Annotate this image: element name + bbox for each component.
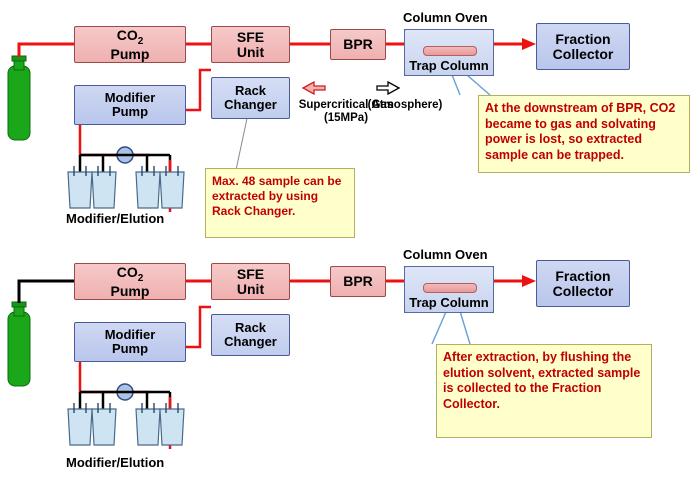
co2-pump-bottom-line2: Pump [111,284,150,299]
rack-changer-bottom[interactable]: Rack Changer [211,314,290,356]
rack-changer-top-line1: Rack [235,84,266,98]
modifier-pump-bottom-line1: Modifier [105,328,156,342]
trap-column-tube-top [423,46,477,56]
fraction-collector-top-line2: Collector [553,47,614,62]
rack-changer-bottom-line1: Rack [235,321,266,335]
modifier-elution-bottom-label: Modifier/Elution [66,455,164,470]
co2-cylinder-bottom [8,302,30,386]
column-oven-top-label: Column Oven [403,10,488,25]
co2-pump-bottom[interactable]: CO2 Pump [74,263,186,300]
fraction-collector-top[interactable]: Fraction Collector [536,23,630,70]
sfe-unit-bottom-line1: SFE [237,267,264,282]
bpr-bottom[interactable]: BPR [330,266,386,297]
rack-changer-note: Max. 48 sample can be extracted by using… [205,168,355,238]
co2-cylinder-top [8,56,30,140]
modifier-pump-bottom[interactable]: Modifier Pump [74,322,186,362]
column-oven-bottom-label: Column Oven [403,247,488,262]
sfe-unit-top[interactable]: SFE Unit [211,26,290,63]
modifier-elution-top-label: Modifier/Elution [66,211,164,226]
fraction-collector-bottom[interactable]: Fraction Collector [536,260,630,307]
rack-changer-top-line2: Changer [224,98,277,112]
supercritical-gas-line2: (15MPa) [291,112,401,125]
bpr-top[interactable]: BPR [330,29,386,60]
trap-column-top-label: Trap Column [409,58,488,75]
bpr-top-label: BPR [343,37,373,52]
flush-note: After extraction, by flushing the elutio… [436,344,652,438]
bpr-bottom-label: BPR [343,274,373,289]
trap-column-bottom-label: Trap Column [409,295,488,312]
sfe-unit-top-line1: SFE [237,30,264,45]
rack-changer-top[interactable]: Rack Changer [211,77,290,119]
sfe-unit-bottom[interactable]: SFE Unit [211,263,290,300]
co2-pump-bottom-line1: CO2 [117,265,144,284]
atmosphere-label: (Atmosphere) [360,99,450,112]
fraction-collector-top-line1: Fraction [555,32,610,47]
co2-subscript: 2 [138,35,144,46]
modifier-pump-bottom-line2: Pump [112,342,148,356]
modifier-pump-top-line1: Modifier [105,91,156,105]
co2-pump-top-line1: CO2 [117,28,144,47]
modifier-pump-top[interactable]: Modifier Pump [74,85,186,125]
modifier-pump-top-line2: Pump [112,105,148,119]
bpr-note: At the downstream of BPR, CO2 became to … [478,95,690,173]
co2-subscript-bottom: 2 [138,272,144,283]
co2-pump-top[interactable]: CO2 Pump [74,26,186,63]
trap-column-tube-bottom [423,283,477,293]
sfe-unit-top-line2: Unit [237,45,264,60]
diagram-canvas: CO2 Pump Modifier Pump SFE Unit Rack Cha… [0,0,690,477]
co2-pump-top-line2: Pump [111,47,150,62]
sfe-unit-bottom-line2: Unit [237,282,264,297]
fraction-collector-bottom-line1: Fraction [555,269,610,284]
fraction-collector-bottom-line2: Collector [553,284,614,299]
rack-changer-bottom-line2: Changer [224,335,277,349]
